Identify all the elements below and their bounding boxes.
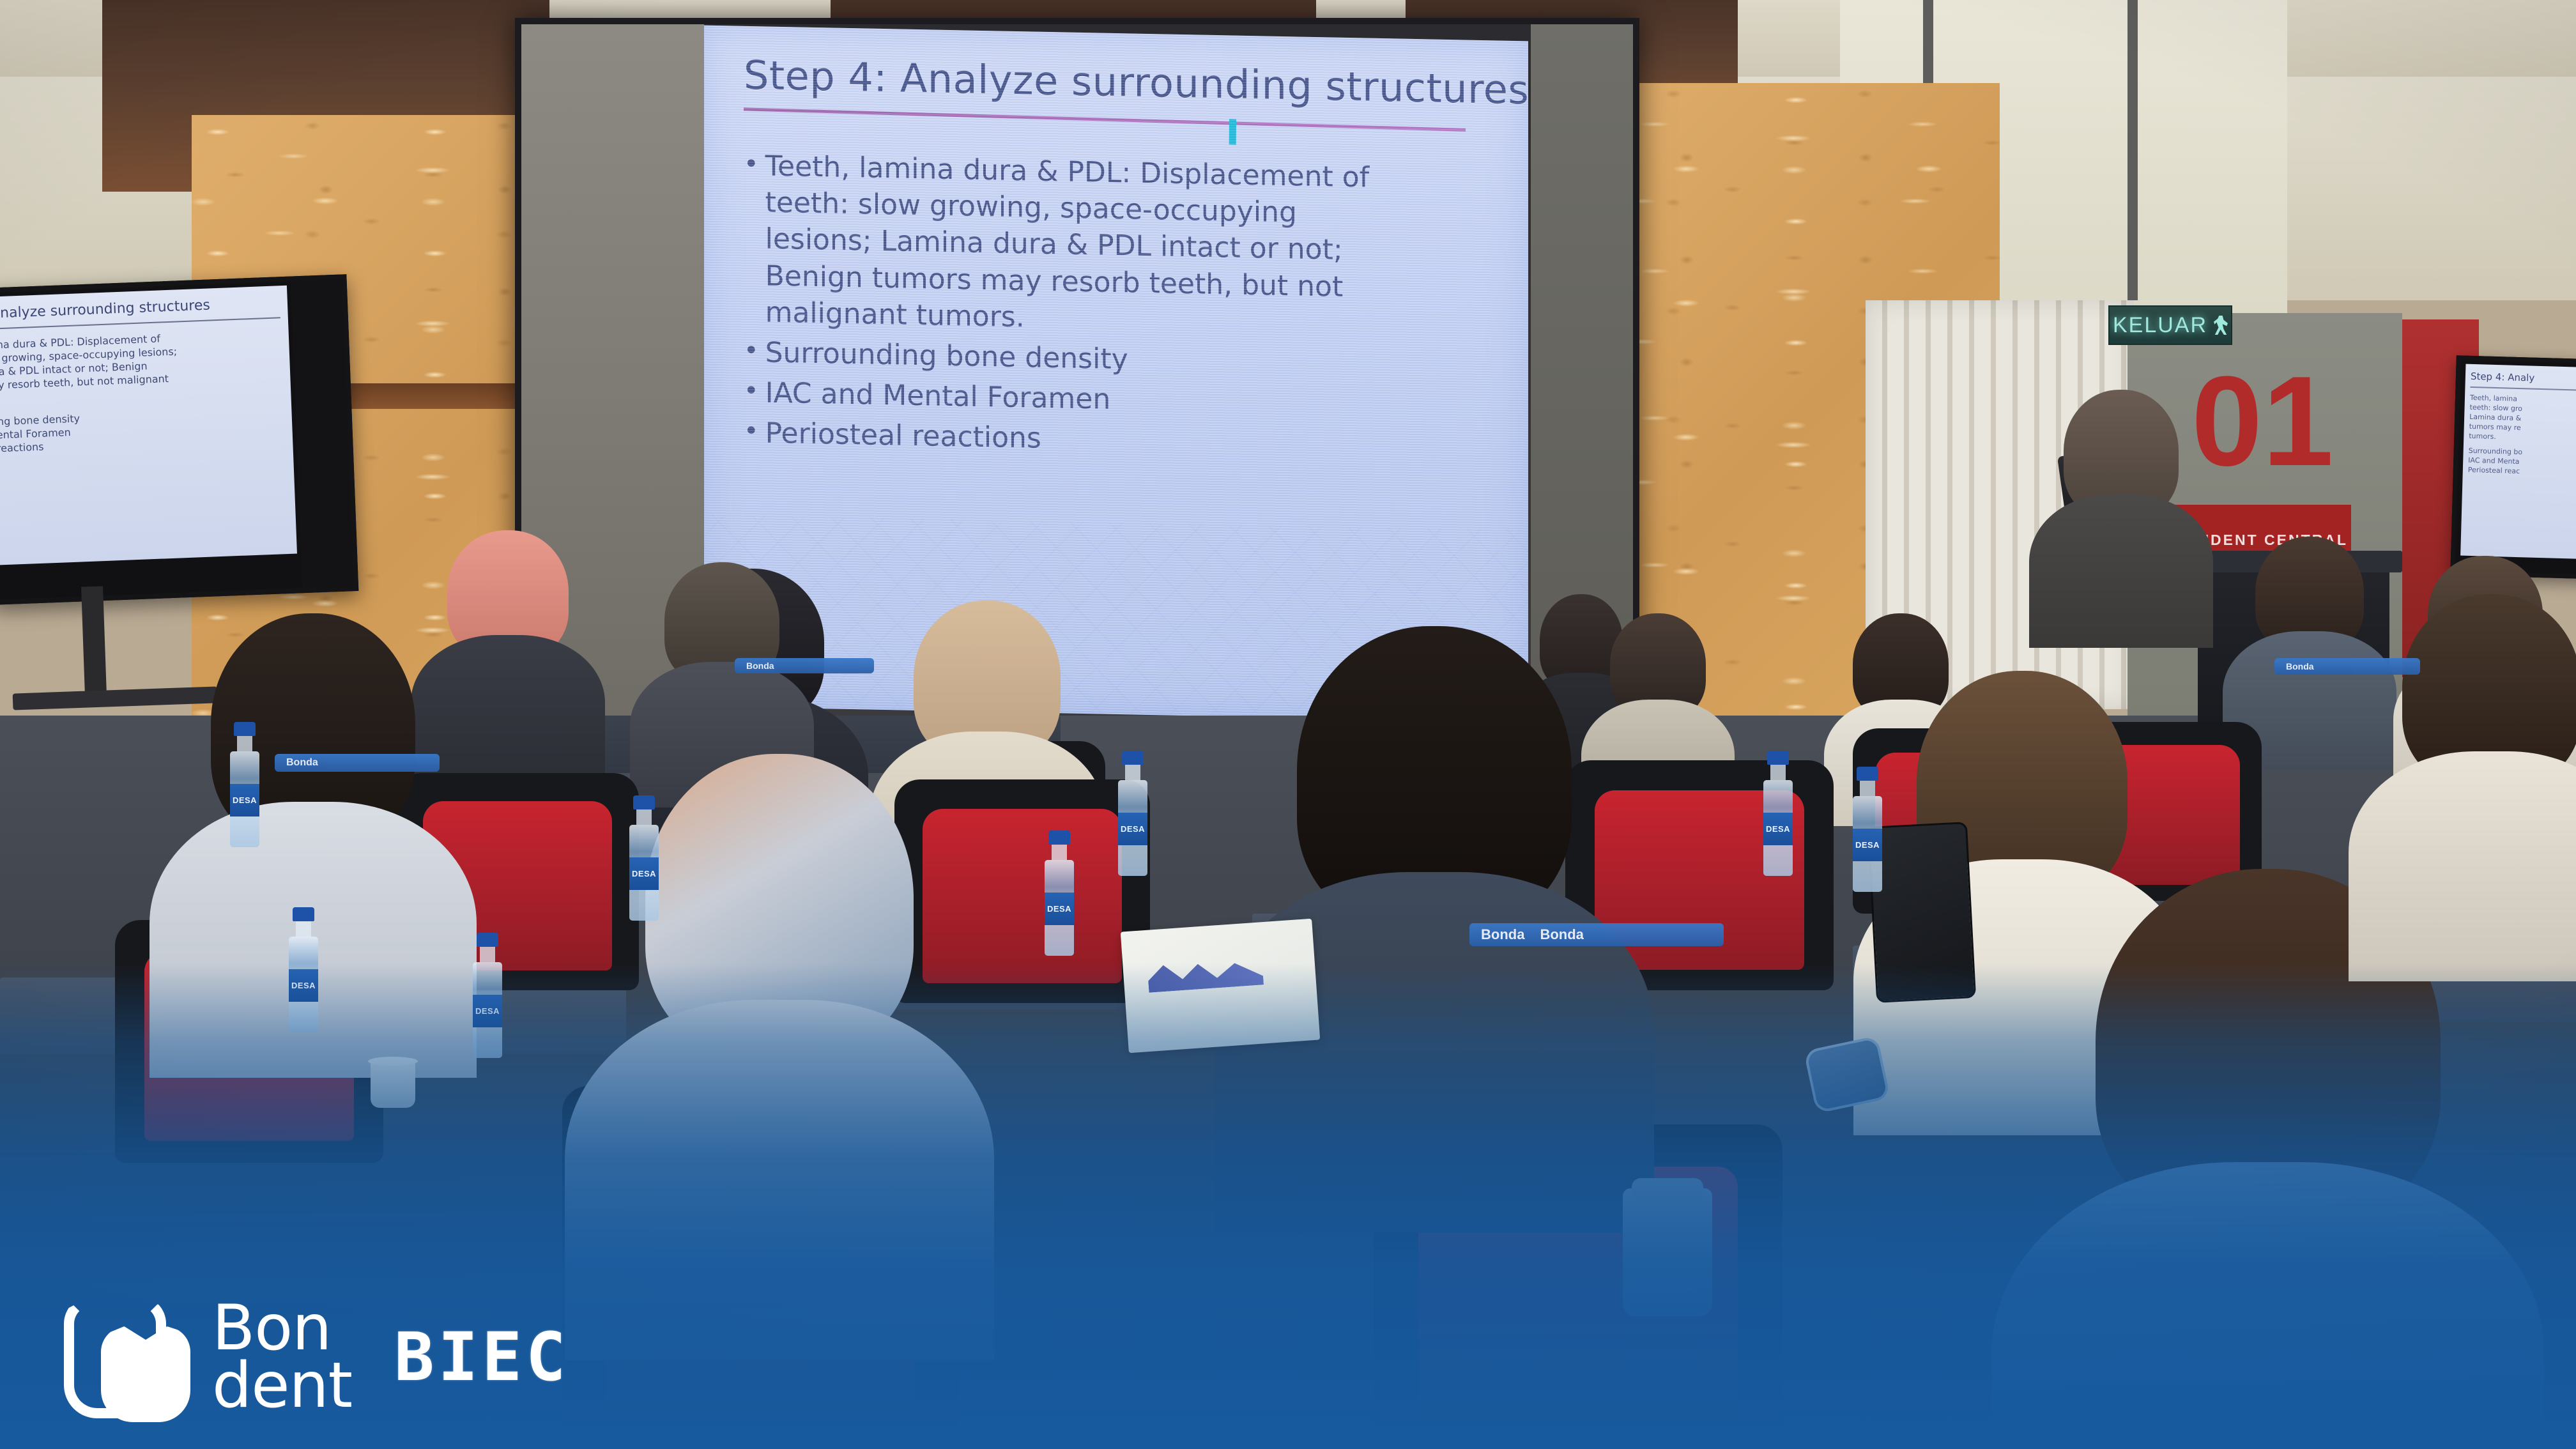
presenter [2064,390,2179,517]
smartphone [1867,822,1976,1003]
exit-sign-label: KELUAR [2113,313,2207,338]
lanyard-text-3: Bonda [286,757,318,769]
bullet-marker: • [744,148,759,181]
slide-bullet-2-text: Surrounding bone density [765,334,1128,378]
lanyard-text-1: Bonda [1481,926,1524,943]
audience-member-headscarf-pink [447,530,569,658]
chair-seatback [923,809,1122,983]
bullet-marker: • [744,334,759,367]
water-bottle-4: DESA [629,795,659,921]
water-bottle-6: DESA [1118,751,1147,876]
bottle-label-text: DESA [475,1006,500,1016]
presenter-torso [2029,494,2213,648]
lanyard-mid: Bonda [735,658,874,673]
audience-member-headscarf-beige [914,601,1061,760]
bottle-label: DESA [289,969,318,1002]
confidence-monitor-right: Step 4: Analy Teeth, lamina teeth: slow … [2450,355,2576,580]
torso [411,635,605,788]
bottle-body: DESA [1853,796,1882,892]
bottle-neck [1052,845,1067,860]
bondent-word-line1: Bon [212,1299,352,1357]
drink-tumbler [1623,1188,1712,1316]
exit-sign: KELUAR [2108,305,2232,345]
water-bottle-5: DESA [1045,831,1074,956]
audience-member-back-2 [1610,613,1706,719]
right-monitor-line-8: Periosteal reac [2468,465,2576,480]
bottle-neck [480,947,495,962]
torso [2349,751,2576,981]
bottle-body: DESA [629,825,659,921]
left-monitor-bezel [291,280,353,588]
room-number: 01 [2191,358,2333,486]
bottle-label-text: DESA [1855,840,1880,850]
projected-slide: Step 4: Analyze surrounding structures •… [704,26,1528,723]
water-bottle-8: DESA [1853,767,1882,892]
bottle-cap [477,933,498,947]
water-bottle-3: DESA [230,722,259,847]
chair-front-3 [894,779,1150,1003]
bottle-cap [1767,751,1789,765]
lanyard-right: Bonda [2274,658,2420,675]
water-bottle-1: DESA [289,907,318,1032]
conference-tote-bag [1121,919,1321,1053]
audience-member-center-front [1297,626,1572,926]
slide-bullet-list: • Teeth, lamina dura & PDL: Displacement… [744,148,1503,466]
lanyard-text-2: Bonda [1540,926,1583,943]
slide-bullet-1-text: Teeth, lamina dura & PDL: Displacement o… [765,148,1404,342]
slide-bullet-4-text: Periosteal reactions [765,415,1041,457]
bullet-marker: • [744,415,759,448]
bottle-label-text: DESA [1121,824,1145,834]
right-monitor-line-5: tumors. [2469,432,2576,447]
bottle-neck [1770,765,1786,780]
lanyard-text-5: Bonda [2286,661,2314,671]
photo-canvas: KELUAR 01 STUDENT CENTRAL Step 4: Analyz… [0,0,2576,1449]
biec-logo: BIEC [394,1318,569,1396]
bondent-tooth-icon [61,1293,195,1421]
tooth-solid-shape [101,1326,190,1422]
right-monitor-rule [2470,387,2576,393]
slide-title: Step 4: Analyze surrounding structures [744,52,1503,113]
tote-logo-mark [1147,955,1264,992]
right-monitor-title: Step 4: Analy [2471,371,2576,387]
bottle-body: DESA [473,962,502,1058]
bottle-label-text: DESA [1766,824,1790,834]
window-mullion-2 [2127,0,2138,300]
bottle-cap [633,795,655,809]
bottle-cap [1857,767,1878,781]
slide-accent-tick [1229,119,1236,144]
audience-member-far-right [2402,594,2576,786]
bottle-neck [1860,781,1875,796]
slide-title-rule [744,107,1466,132]
bondent-wordmark: Bon dent [212,1299,352,1414]
confidence-monitor-left-screen: ep 4: Analyze surrounding structures eth… [0,286,297,567]
brand-logo-row: Bon dent BIEC [61,1293,570,1421]
bottle-body: DESA [230,751,259,847]
audience-member-back-3 [1853,613,1949,719]
water-bottle-7: DESA [1763,751,1793,876]
bottle-label: DESA [230,784,259,816]
bottle-label: DESA [629,857,659,890]
bottle-label-text: DESA [233,795,257,805]
bottle-label: DESA [473,995,502,1027]
slide-content: Step 4: Analyze surrounding structures •… [744,52,1503,470]
paper-cup [371,1061,415,1108]
confidence-monitor-left: ep 4: Analyze surrounding structures eth… [0,274,358,605]
bottle-label: DESA [1045,893,1074,925]
bottle-neck [237,736,252,751]
audience-member-back-4 [2255,537,2364,652]
bottle-label: DESA [1118,813,1147,845]
bottle-label-text: DESA [1047,904,1071,914]
bottle-label: DESA [1763,813,1793,845]
torso [565,1000,994,1360]
lanyard-center: Bonda Bonda [1469,923,1724,946]
bondent-word-line2: dent [212,1357,352,1414]
bottle-body: DESA [1763,780,1793,876]
bottle-body: DESA [1045,860,1074,956]
bottle-body: DESA [1118,780,1147,876]
bullet-marker: • [744,374,759,408]
bondent-logo: Bon dent [61,1293,352,1421]
bottle-cap [234,722,256,736]
bottle-cap [1048,831,1070,845]
lanyard-text-4: Bonda [746,661,774,671]
slide-bullet-1: • Teeth, lamina dura & PDL: Displacement… [744,148,1503,345]
bottle-label-text: DESA [632,869,656,878]
bottle-neck [296,921,311,937]
bottle-neck [636,809,652,825]
bottle-neck [1125,765,1140,780]
bottle-label-text: DESA [291,981,316,990]
slide-bullet-3-text: IAC and Mental Foramen [765,375,1111,418]
bottle-body: DESA [289,937,318,1032]
running-man-icon [2214,316,2228,335]
lanyard-left: Bonda [275,754,440,772]
bottle-cap [293,907,314,921]
monitor-stand [81,586,107,695]
water-bottle-2: DESA [473,933,502,1058]
bottle-label: DESA [1853,829,1882,861]
confidence-monitor-right-screen: Step 4: Analy Teeth, lamina teeth: slow … [2460,364,2576,561]
bottle-cap [1122,751,1144,765]
audience-member-patterned-hijab [645,754,914,1054]
